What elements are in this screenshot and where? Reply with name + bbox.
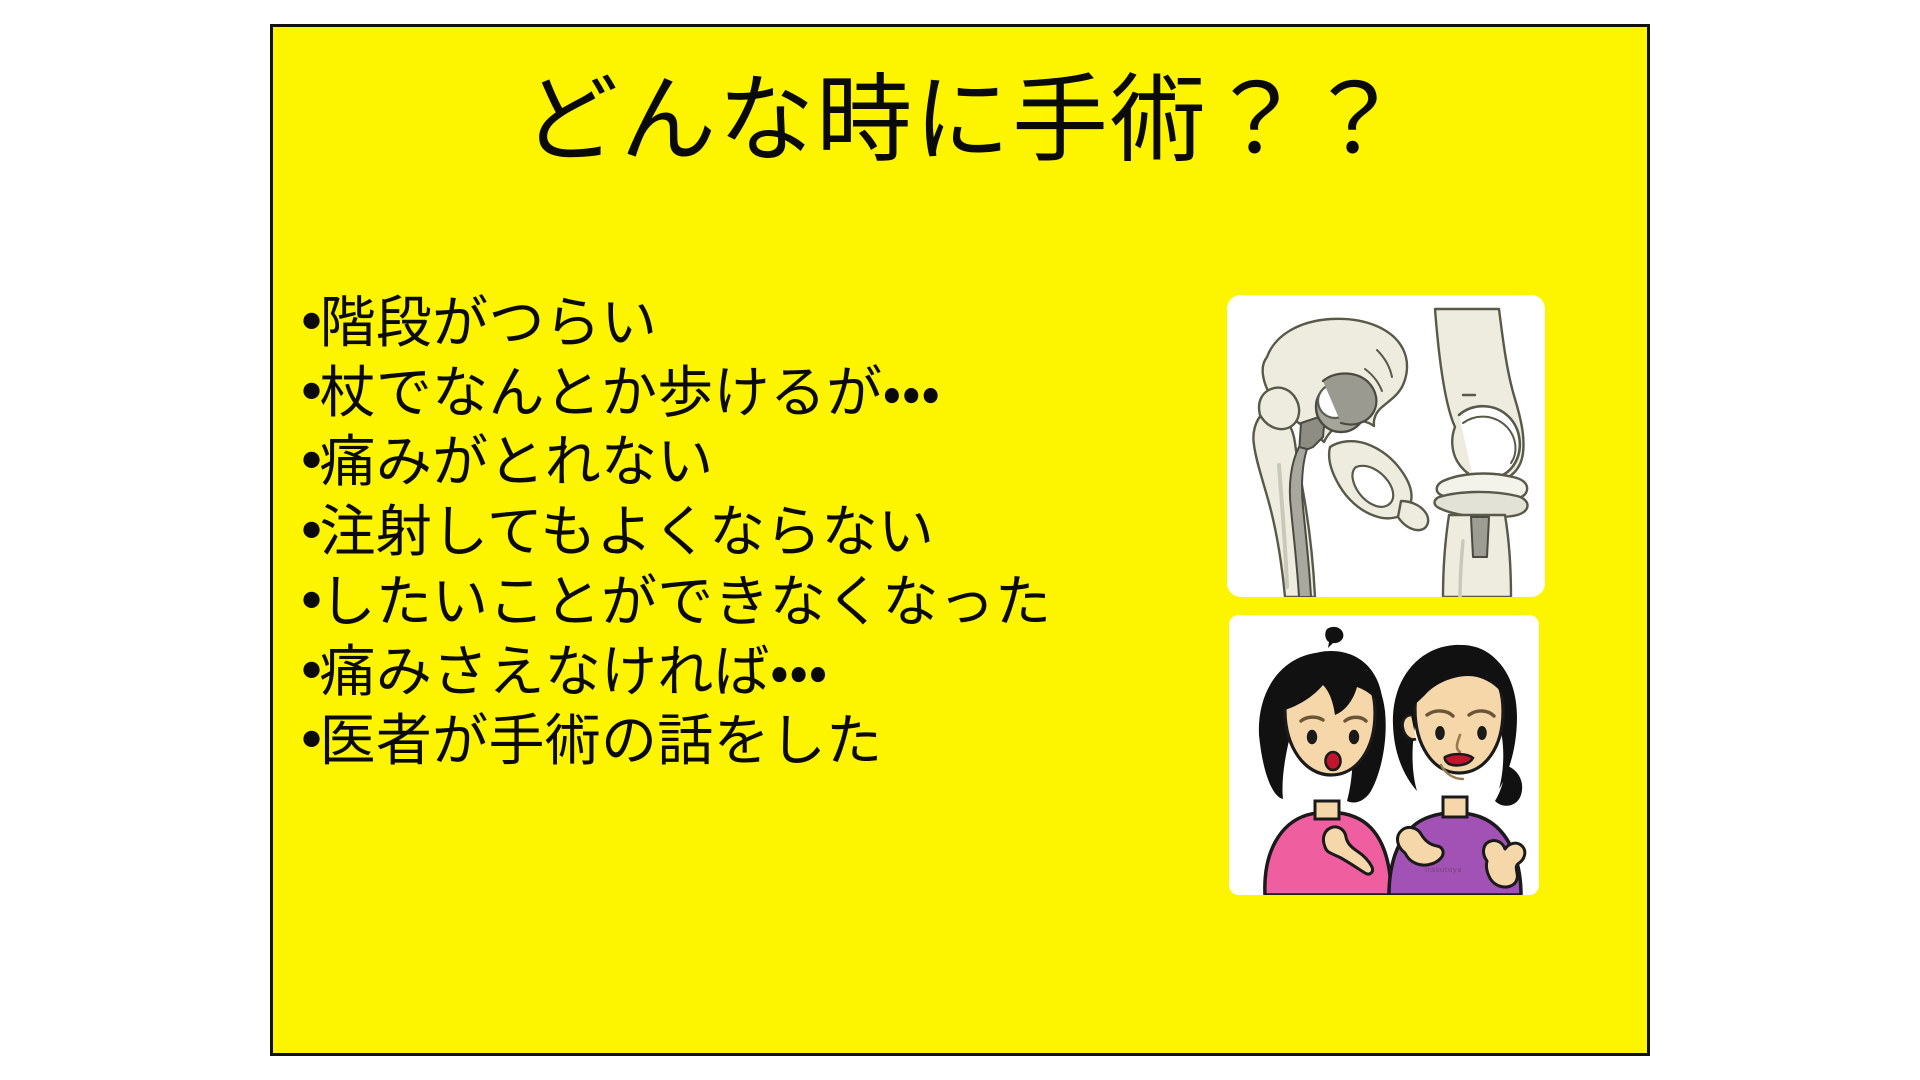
list-item: •注射してもよくならない [295,498,1235,568]
joint-implants-illustration [1227,295,1545,597]
list-item-label: 階段がつらい [320,291,658,356]
bullet-marker-icon: • [295,575,320,631]
presentation-slide: どんな時に手術？？ •階段がつらい •杖でなんとか歩けるが・・・ •痛みがとれな… [270,24,1650,1056]
bullet-marker-icon: • [295,714,320,770]
joint-implants-image [1227,295,1545,597]
bullet-marker-icon: • [295,435,320,491]
list-item-label: 痛みがとれない [320,430,714,495]
list-item: •医者が手術の話をした [295,707,1235,777]
list-item: •痛みがとれない [295,428,1235,498]
list-item-label: 杖でなんとか歩けるが・・・ [320,361,941,426]
list-item: •したいことができなくなった [295,568,1235,638]
two-women-talking-illustration: irasutoya [1229,615,1539,895]
bullet-marker-icon: • [295,296,320,352]
right-woman-figure [1389,645,1525,895]
slide-canvas: どんな時に手術？？ •階段がつらい •杖でなんとか歩けるが・・・ •痛みがとれな… [0,0,1920,1080]
list-item-label: 痛みさえなければ・・・ [320,640,828,705]
page-title: どんな時に手術？？ [273,67,1650,175]
left-woman-figure [1259,651,1391,895]
bullet-marker-icon: • [295,645,320,701]
bullet-marker-icon: • [295,505,320,561]
list-item-label: 医者が手術の話をした [320,709,883,774]
list-item: •杖でなんとか歩けるが・・・ [295,359,1235,429]
illustration-watermark: irasutoya [1425,866,1462,874]
list-item: •階段がつらい [295,289,1235,359]
bullet-marker-icon: • [295,366,320,422]
list-item: •痛みさえなければ・・・ [295,638,1235,708]
list-item-label: 注射してもよくならない [320,500,935,565]
two-women-image [1229,615,1539,895]
list-item-label: したいことができなくなった [320,570,1052,635]
bullet-list: •階段がつらい •杖でなんとか歩けるが・・・ •痛みがとれない •注射してもよく… [295,289,1235,777]
